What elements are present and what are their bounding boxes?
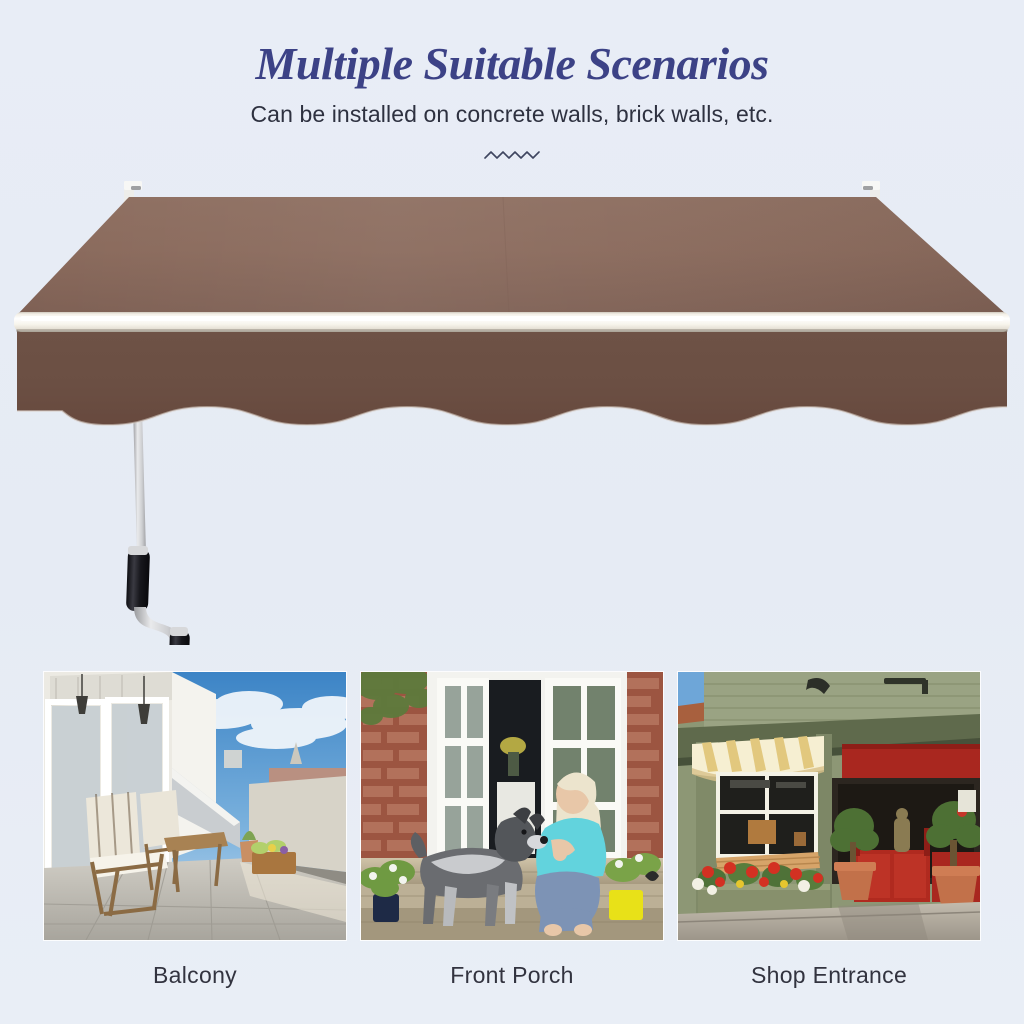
balcony-scene-illustration: [44, 672, 346, 940]
zigzag-wave-divider-icon: [477, 128, 547, 166]
product-marketing-page: Multiple Suitable Scenarios Can be insta…: [0, 0, 1024, 1024]
page-subtitle: Can be installed on concrete walls, bric…: [0, 88, 1024, 128]
front-porch-scene-illustration: [361, 672, 663, 940]
crank-handle-icon: [126, 407, 190, 645]
shop-window: [716, 772, 818, 858]
photo-front-porch[interactable]: [361, 672, 663, 940]
caption-shop-entrance: Shop Entrance: [678, 940, 980, 989]
canopy-sheen: [17, 197, 1007, 315]
photo-balcony[interactable]: [44, 672, 346, 940]
awning-illustration: [0, 175, 1024, 645]
caption-front-porch: Front Porch: [361, 940, 663, 989]
awning-valance-scalloped: [17, 327, 1007, 425]
french-door-left: [437, 678, 489, 860]
shop-entrance-scene-illustration: [678, 672, 980, 940]
gallery-item-shop-entrance[interactable]: Shop Entrance: [678, 672, 980, 989]
header: Multiple Suitable Scenarios Can be insta…: [0, 0, 1024, 166]
figure-in-doorway: [894, 808, 910, 852]
page-title: Multiple Suitable Scenarios: [0, 0, 1024, 88]
red-awning: [842, 744, 980, 778]
gallery-item-balcony[interactable]: Balcony: [44, 672, 346, 989]
awning-product-image: [0, 175, 1024, 645]
caption-balcony: Balcony: [44, 940, 346, 989]
gallery-item-front-porch[interactable]: Front Porch: [361, 672, 663, 989]
roller-bar: [14, 312, 1010, 332]
scenario-gallery: Balcony: [44, 672, 980, 989]
photo-shop-entrance[interactable]: [678, 672, 980, 940]
